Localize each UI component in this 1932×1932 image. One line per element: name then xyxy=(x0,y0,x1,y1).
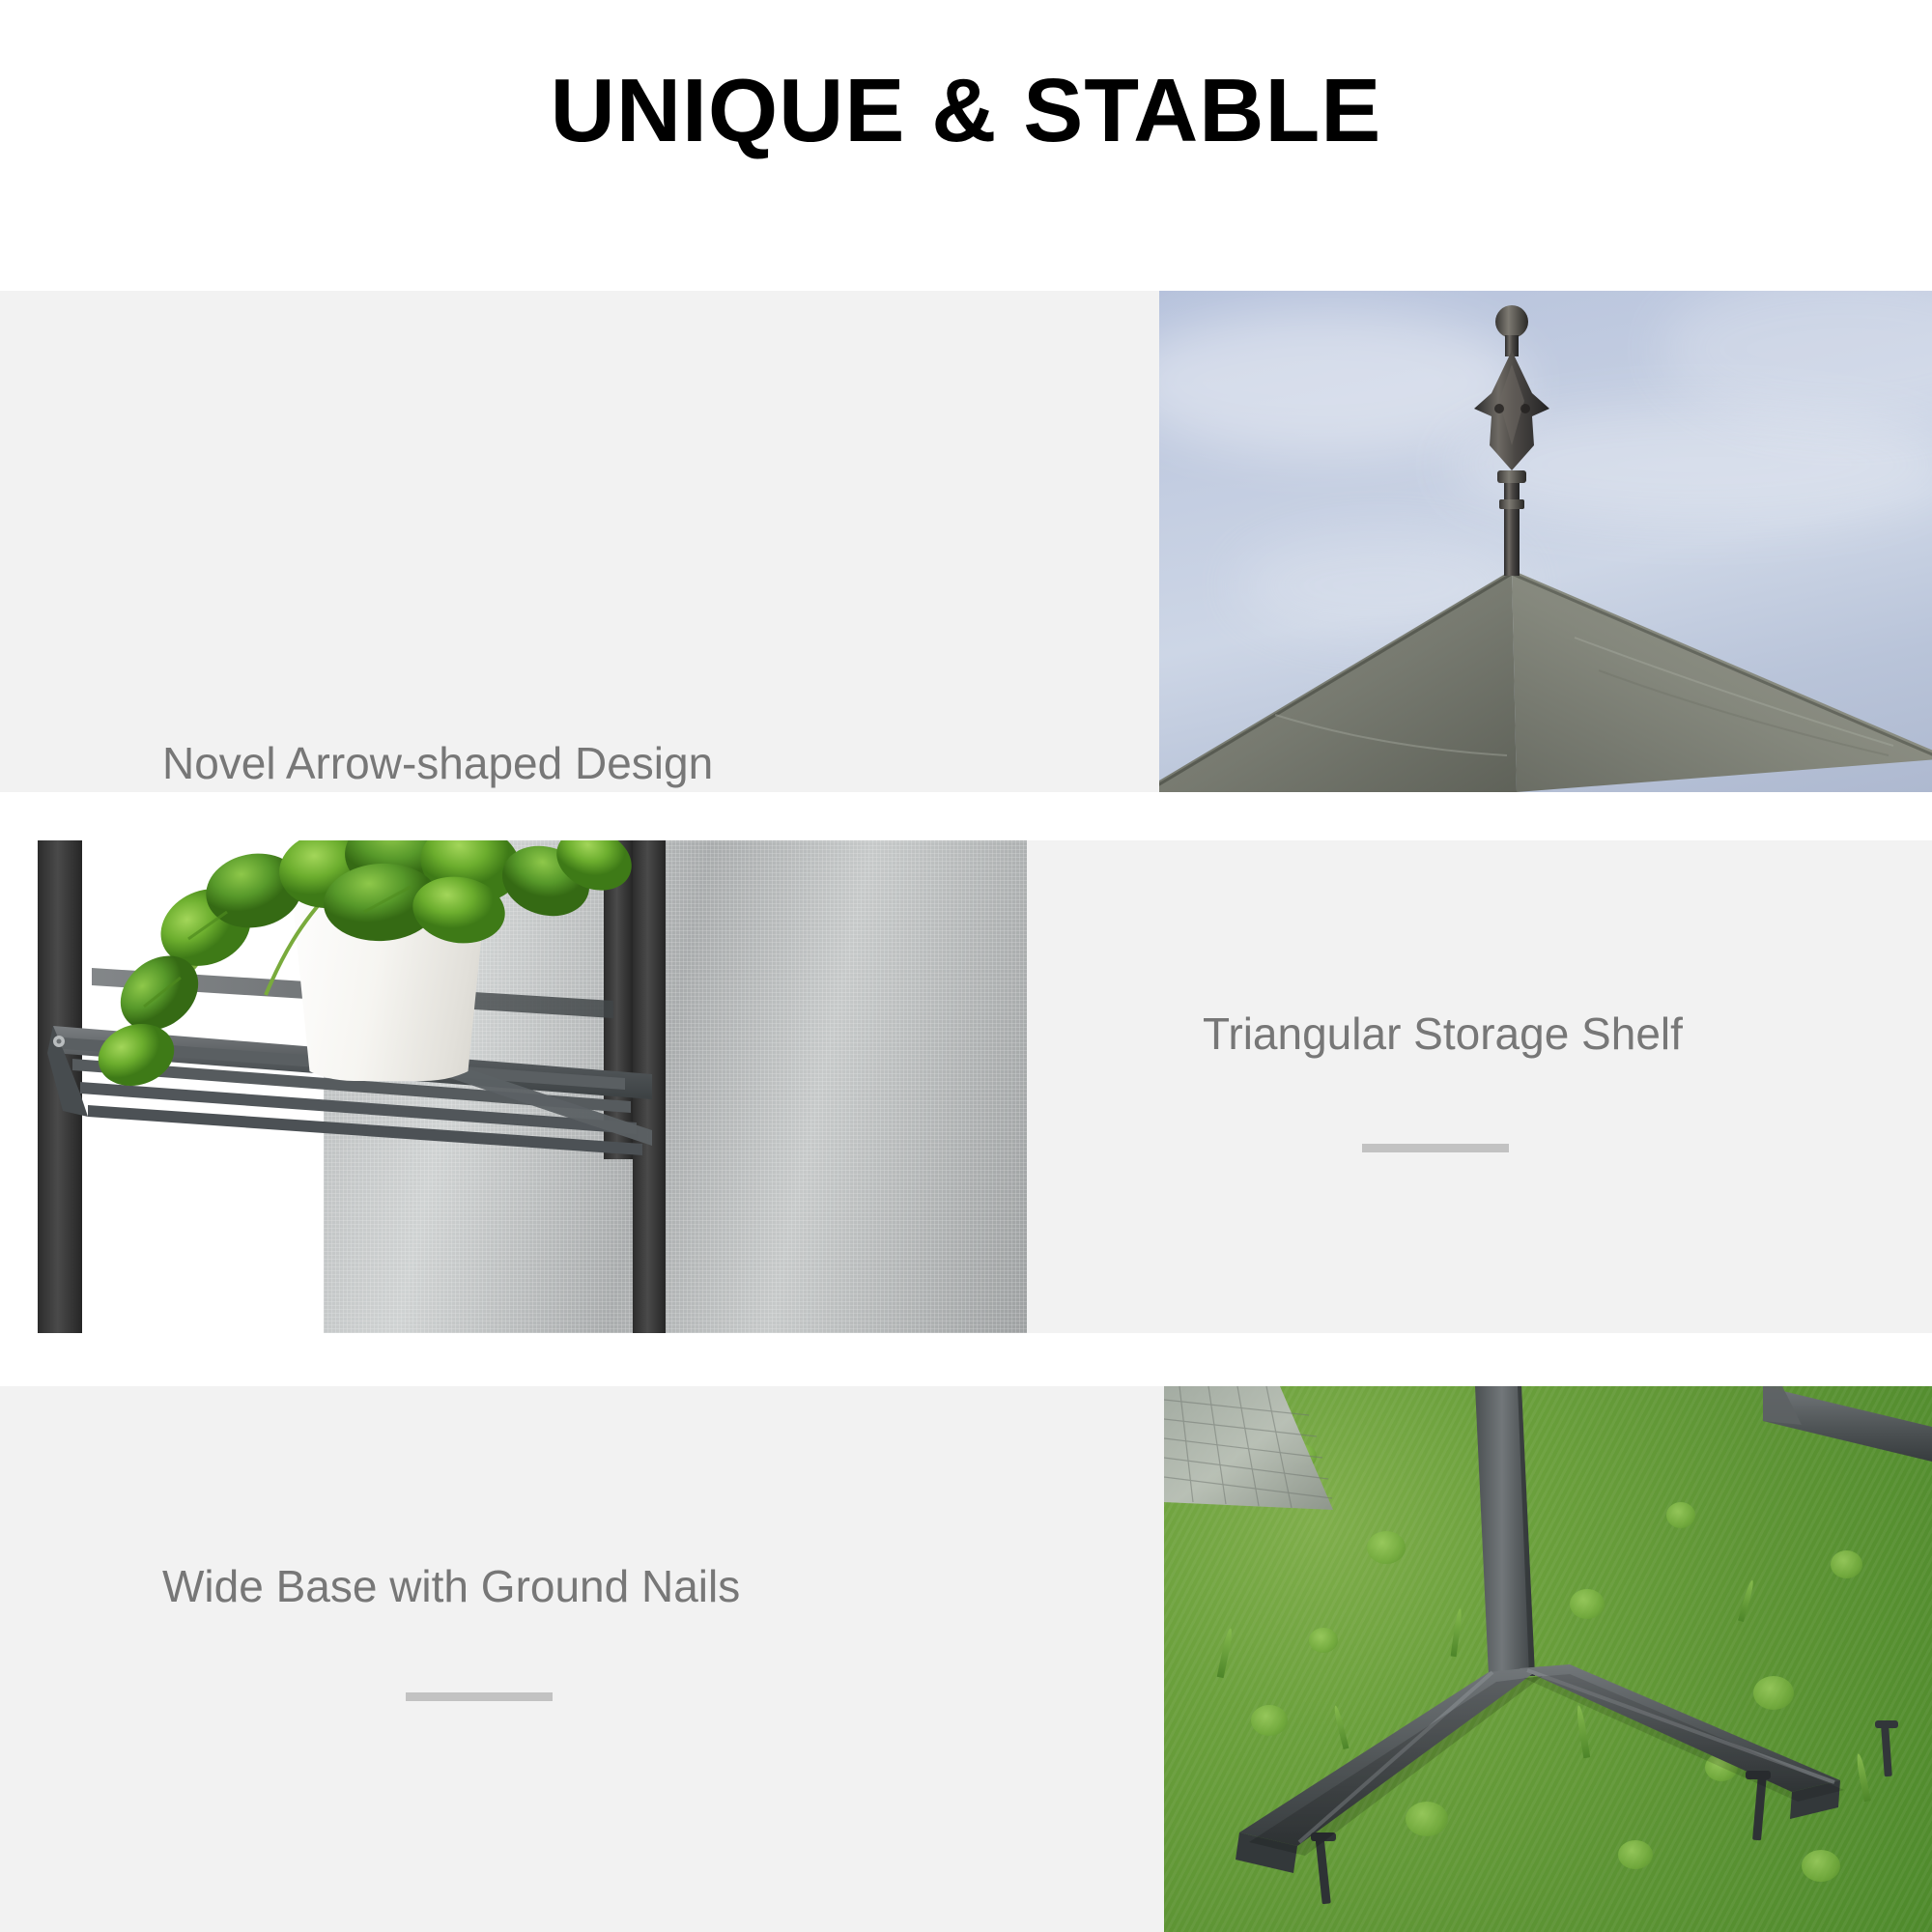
page-title: UNIQUE & STABLE xyxy=(0,66,1932,156)
wide-base-frame-graphic xyxy=(1164,1386,1932,1932)
arrow-finial-icon xyxy=(1449,300,1575,581)
feature-photo-ground-nails xyxy=(1164,1386,1932,1932)
page-header: UNIQUE & STABLE xyxy=(0,0,1932,291)
feature-panel-triangular-storage-shelf: Triangular Storage Shelf xyxy=(1027,840,1932,1333)
feature-label-triangular-storage-shelf: Triangular Storage Shelf xyxy=(1203,1008,1683,1061)
feature-label-novel-arrow-shaped-design: Novel Arrow-shaped Design xyxy=(162,737,713,790)
feature-label-wide-base-with-ground-nails: Wide Base with Ground Nails xyxy=(162,1560,740,1613)
cloud-wisp xyxy=(1662,291,1932,426)
feature-panel-wide-base-with-ground-nails: Wide Base with Ground Nails xyxy=(0,1386,1164,1932)
feature-divider-triangular-storage-shelf xyxy=(1362,1144,1509,1152)
feature-panel-novel-arrow-shaped-design: Novel Arrow-shaped Design xyxy=(0,291,1159,792)
pothos-plant-graphic xyxy=(92,840,710,1092)
feature-photo-arrow-finial xyxy=(1159,291,1932,792)
feature-divider-wide-base-with-ground-nails xyxy=(406,1692,553,1701)
canopy-roof-graphic xyxy=(1159,570,1932,792)
feature-photo-triangular-shelf xyxy=(34,840,1027,1333)
